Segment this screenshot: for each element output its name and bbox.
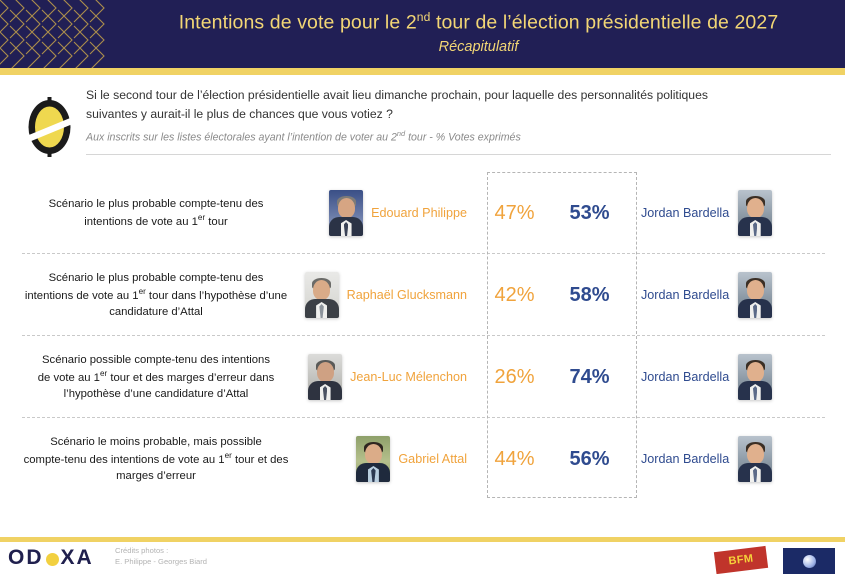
avatar bbox=[738, 272, 772, 318]
scenario-text-b: compte-tenu des intentions de vote au 1 bbox=[24, 454, 225, 466]
odoxa-logo-icon bbox=[22, 96, 77, 158]
question-base-ordinal: nd bbox=[397, 129, 405, 138]
header-gold-rule bbox=[0, 68, 845, 75]
scenario-ordinal: er bbox=[225, 451, 232, 460]
scenario-text-a: Scénario le moins probable, mais possibl… bbox=[50, 436, 262, 448]
left-candidate-percent: 44% bbox=[477, 448, 552, 471]
scenario-label: Scénario le plus probable compte-tenu de… bbox=[0, 196, 310, 231]
avatar bbox=[738, 354, 772, 400]
right-candidate-percent: 74% bbox=[552, 366, 627, 389]
left-candidate-percent: 26% bbox=[477, 366, 552, 389]
right-candidate-name: Jordan Bardella bbox=[641, 370, 729, 384]
chevron-pattern-icon bbox=[0, 0, 112, 68]
question-line-2: suivantes y aurait-il le plus de chances… bbox=[86, 105, 831, 124]
odoxa-wordmark: ODXA bbox=[8, 546, 94, 570]
left-candidate-name: Edouard Philippe bbox=[371, 206, 467, 220]
avatar bbox=[738, 190, 772, 236]
left-candidate-percent: 47% bbox=[477, 202, 552, 225]
photo-credits: Crédits photos : E. Philippe - Georges B… bbox=[115, 545, 207, 567]
right-candidate-cell: Jordan Bardella bbox=[627, 190, 830, 236]
scenario-text-b: intentions de vote au 1 bbox=[84, 216, 198, 228]
left-candidate-cell: Raphaël Glucksmann bbox=[310, 272, 477, 318]
page-title: Intentions de vote pour le 2nd tour de l… bbox=[179, 11, 779, 34]
partner-logo bbox=[783, 548, 835, 574]
scenario-text-b: de vote au 1 bbox=[38, 372, 100, 384]
table-row: Scénario le moins probable, mais possibl… bbox=[0, 418, 845, 500]
page-footer: ODXA Crédits photos : E. Philippe - Geor… bbox=[0, 542, 845, 563]
right-candidate-cell: Jordan Bardella bbox=[627, 436, 830, 482]
scenario-text-a: Scénario possible compte-tenu des intent… bbox=[42, 354, 270, 366]
avatar bbox=[356, 436, 390, 482]
table-row: Scénario le plus probable compte-tenu de… bbox=[0, 254, 845, 336]
question-line-1: Si le second tour de l’élection présiden… bbox=[86, 86, 831, 105]
right-candidate-name: Jordan Bardella bbox=[641, 288, 729, 302]
scenario-label: Scénario possible compte-tenu des intent… bbox=[0, 352, 310, 403]
page-title-part2: tour de l’élection présidentielle de 202… bbox=[430, 12, 778, 34]
right-candidate-percent: 58% bbox=[552, 284, 627, 307]
photo-credits-line-2: E. Philippe - Georges Biard bbox=[115, 556, 207, 567]
left-candidate-name: Jean-Luc Mélenchon bbox=[350, 370, 467, 384]
question-base-part2: tour - % Votes exprimés bbox=[405, 131, 521, 143]
right-candidate-cell: Jordan Bardella bbox=[627, 272, 830, 318]
scenario-text-a: Scénario le plus probable compte-tenu de… bbox=[49, 272, 264, 284]
right-candidate-name: Jordan Bardella bbox=[641, 452, 729, 466]
question-base-note: Aux inscrits sur les listes électorales … bbox=[86, 129, 831, 144]
left-candidate-percent: 42% bbox=[477, 284, 552, 307]
table-row: Scénario le plus probable compte-tenu de… bbox=[0, 172, 845, 254]
avatar bbox=[308, 354, 342, 400]
bfm-logo: BFM bbox=[714, 546, 768, 574]
scenario-label: Scénario le plus probable compte-tenu de… bbox=[0, 270, 310, 321]
left-candidate-name: Raphaël Glucksmann bbox=[347, 288, 467, 302]
globe-orb-icon bbox=[803, 555, 816, 568]
right-candidate-cell: Jordan Bardella bbox=[627, 354, 830, 400]
left-candidate-name: Gabriel Attal bbox=[398, 452, 467, 466]
question-base-part1: Aux inscrits sur les listes électorales … bbox=[86, 131, 397, 143]
page-title-part1: Intentions de vote pour le 2 bbox=[179, 12, 417, 34]
scenario-text-c: tour bbox=[205, 216, 228, 228]
results-table: Scénario le plus probable compte-tenu de… bbox=[0, 172, 845, 500]
scenario-ordinal: er bbox=[139, 287, 146, 296]
right-candidate-name: Jordan Bardella bbox=[641, 206, 729, 220]
header-title-group: Intentions de vote pour le 2nd tour de l… bbox=[112, 0, 845, 68]
scenario-text-a: Scénario le plus probable compte-tenu de… bbox=[49, 198, 264, 210]
page-title-ordinal: nd bbox=[417, 10, 431, 24]
left-candidate-cell: Jean-Luc Mélenchon bbox=[310, 354, 477, 400]
avatar bbox=[329, 190, 363, 236]
left-candidate-cell: Edouard Philippe bbox=[310, 190, 477, 236]
avatar bbox=[738, 436, 772, 482]
right-candidate-percent: 56% bbox=[552, 448, 627, 471]
scenario-text-b: intentions de vote au 1 bbox=[25, 290, 139, 302]
photo-credits-line-1: Crédits photos : bbox=[115, 545, 207, 556]
table-row: Scénario possible compte-tenu des intent… bbox=[0, 336, 845, 418]
o-dot-icon bbox=[46, 553, 59, 566]
page-subtitle: Récapitulatif bbox=[439, 39, 519, 55]
scenario-label: Scénario le moins probable, mais possibl… bbox=[0, 434, 310, 485]
avatar bbox=[305, 272, 339, 318]
page-header: Intentions de vote pour le 2nd tour de l… bbox=[0, 0, 845, 68]
question-divider bbox=[86, 154, 831, 155]
odoxa-wordmark-part2: XA bbox=[61, 546, 94, 570]
right-candidate-percent: 53% bbox=[552, 202, 627, 225]
left-candidate-cell: Gabriel Attal bbox=[310, 436, 477, 482]
odoxa-wordmark-part1: OD bbox=[8, 546, 44, 570]
survey-question: Si le second tour de l’élection présiden… bbox=[86, 86, 831, 143]
